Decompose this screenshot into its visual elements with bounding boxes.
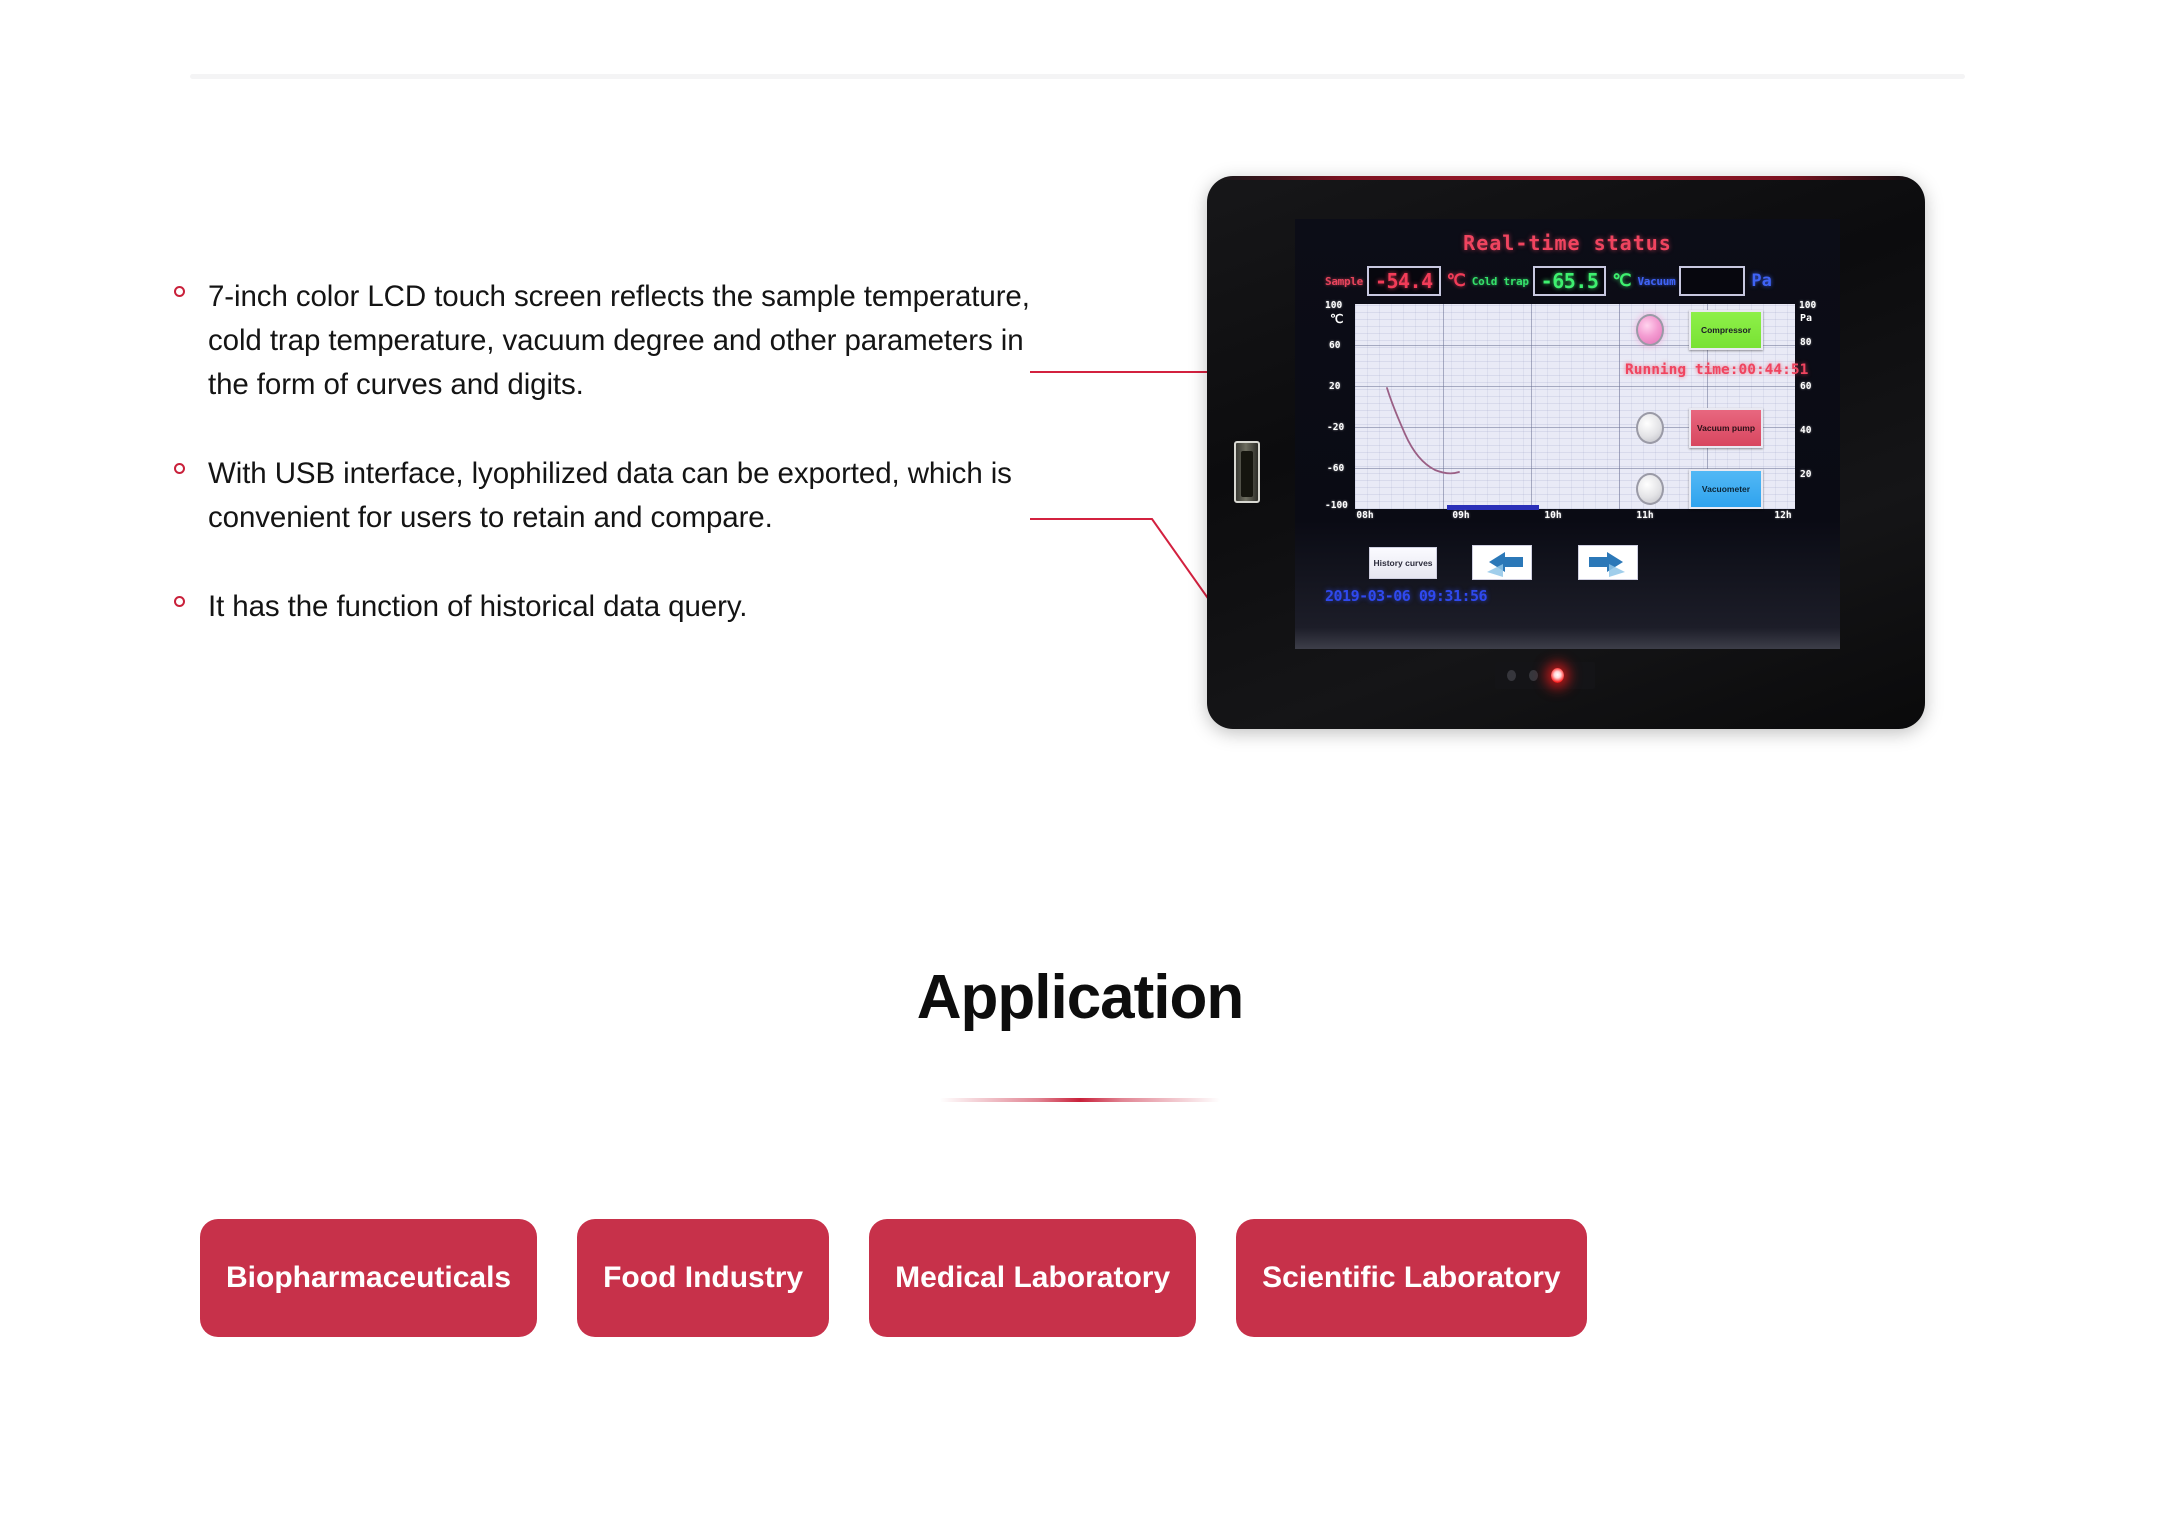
x-tick: 11h [1636,510,1653,521]
y2-tick: 40 [1800,425,1811,436]
top-divider [190,74,1965,79]
temperature-axis: 100 ℃ 60 20 -20 -60 -100 [1325,304,1355,509]
cold-trap-label: Cold trap [1472,275,1529,288]
cold-trap-value: -65.5 [1541,269,1599,293]
feature-text: With USB interface, lyophilized data can… [208,452,1048,540]
y2-axis-unit: Pa [1800,313,1812,324]
history-curves-button[interactable]: History curves [1369,547,1437,579]
vacuometer-button[interactable]: Vacuometer [1689,469,1763,509]
application-tag-medical-laboratory[interactable]: Medical Laboratory [869,1219,1196,1337]
x-tick: 12h [1774,510,1791,521]
vacuum-value-box [1679,266,1745,296]
screen-title: Real-time status [1295,231,1840,255]
y-tick: 60 [1329,340,1340,351]
compressor-indicator-lamp [1636,314,1664,346]
application-tag-biopharmaceuticals[interactable]: Biopharmaceuticals [200,1219,537,1337]
lcd-touch-screen-device: Real-time status Sample -54.4 ℃ Cold tra… [1207,176,1925,729]
feature-item: It has the function of historical data q… [168,585,1048,629]
vacuometer-indicator-lamp [1636,473,1664,505]
y2-tick: 60 [1800,381,1811,392]
power-led-icon [1551,668,1564,683]
status-led-2-icon [1529,670,1538,681]
bullet-circle-icon [174,596,185,607]
sample-label: Sample [1325,275,1363,288]
device-top-highlight [1219,176,1913,180]
sample-value: -54.4 [1375,269,1433,293]
time-axis: 08h 09h 10h 11h 12h [1355,510,1795,526]
cold-trap-value-box: -65.5 [1533,266,1607,296]
vacuum-axis: 100 Pa 80 60 40 20 [1795,304,1825,509]
y2-tick: 20 [1800,469,1811,480]
x-tick: 10h [1544,510,1561,521]
arrow-right-icon[interactable] [1578,545,1638,580]
cold-trap-unit: ℃ [1612,271,1631,291]
bullet-circle-icon [174,463,185,474]
timestamp-label: 2019-03-06 09:31:56 [1325,587,1487,605]
vacuum-label: Vacuum [1637,275,1675,288]
y-tick: 20 [1329,381,1340,392]
page-title: Application [0,962,2160,1033]
y-tick: -20 [1327,422,1344,433]
device-led-strip [1495,662,1595,689]
bullet-circle-icon [174,286,185,297]
usb-port-icon [1234,441,1260,503]
feature-text: 7-inch color LCD touch screen reflects t… [208,275,1048,407]
running-time-label: Running time:00:44:51 [1625,362,1808,378]
sample-value-box: -54.4 [1367,266,1441,296]
lcd-screen: Real-time status Sample -54.4 ℃ Cold tra… [1295,219,1840,649]
application-tag-list: Biopharmaceuticals Food Industry Medical… [200,1219,1990,1337]
feature-item: 7-inch color LCD touch screen reflects t… [168,275,1048,407]
sample-unit: ℃ [1447,271,1466,291]
application-tag-food-industry[interactable]: Food Industry [577,1219,829,1337]
vacuum-pump-indicator-lamp [1636,412,1664,444]
y-axis-unit: ℃ [1330,312,1343,326]
y-tick: -100 [1325,500,1348,511]
vacuum-unit: Pa [1751,271,1771,291]
heading-divider [940,1098,1220,1102]
feature-item: With USB interface, lyophilized data can… [168,452,1048,540]
status-led-1-icon [1507,670,1516,681]
application-tag-scientific-laboratory[interactable]: Scientific Laboratory [1236,1219,1586,1337]
y2-tick: 80 [1800,337,1811,348]
arrow-left-icon[interactable] [1472,545,1532,580]
y2-tick: 100 [1799,300,1816,311]
feature-text: It has the function of historical data q… [208,585,1048,629]
compressor-button[interactable]: Compressor [1689,310,1763,350]
y-tick: 100 [1325,300,1342,311]
x-tick: 08h [1356,510,1373,521]
feature-list: 7-inch color LCD touch screen reflects t… [168,275,1048,629]
x-tick: 09h [1452,510,1469,521]
y-tick: -60 [1327,463,1344,474]
vacuum-pump-button[interactable]: Vacuum pump [1689,408,1763,448]
readout-row: Sample -54.4 ℃ Cold trap -65.5 ℃ Vacuum … [1325,264,1825,298]
